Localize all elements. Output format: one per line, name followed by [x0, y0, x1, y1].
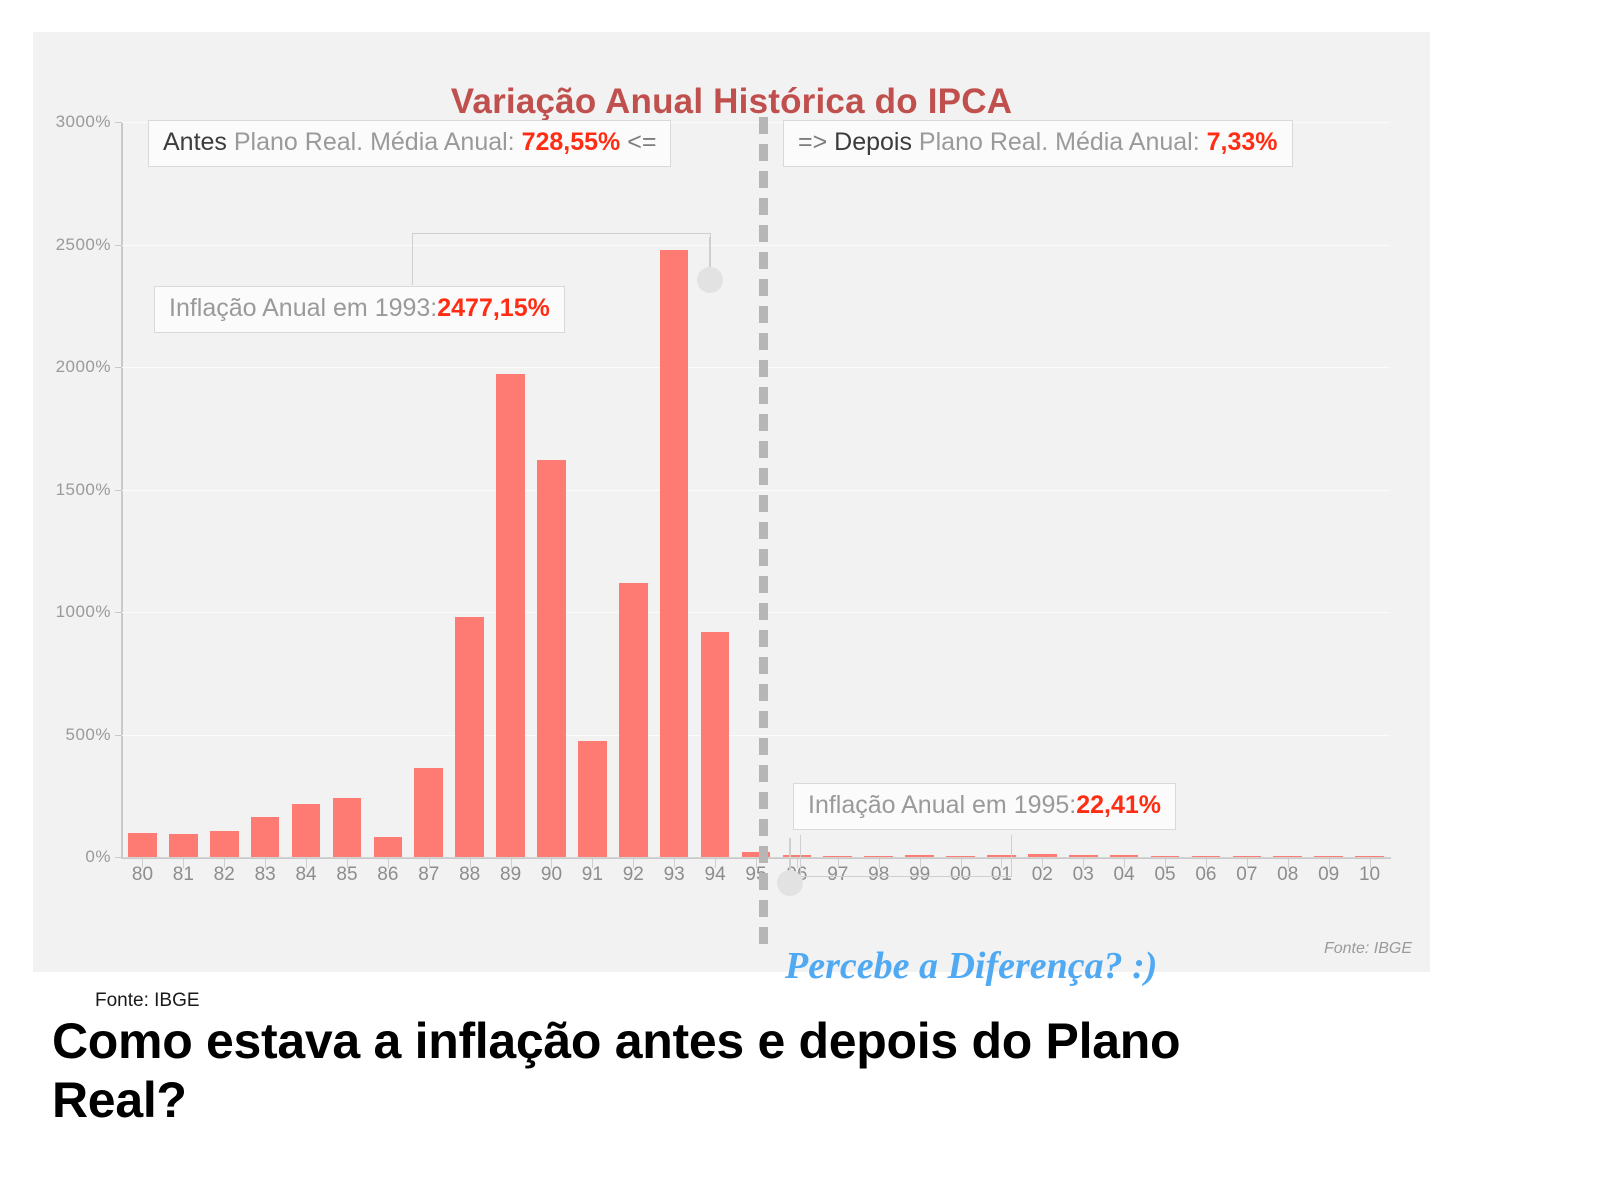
x-tick-mark-08: [1288, 859, 1289, 868]
bar-90[interactable]: [537, 460, 566, 857]
callout-antes-value: 728,55%: [522, 128, 621, 156]
callout-inflacao-1995: Inflação Anual em 1995:22,41%: [793, 783, 1176, 830]
x-tick-mark-07: [1247, 859, 1248, 868]
bar-slot: [245, 122, 286, 857]
bar-84[interactable]: [292, 804, 321, 857]
x-tick-mark-81: [183, 859, 184, 868]
y-tick-label-2000%: 2000%: [33, 357, 111, 377]
chart-panel: Variação Anual Histórica do IPCA 0%500%1…: [33, 32, 1430, 972]
callout-inflacao-1993: Inflação Anual em 1993:2477,15%: [154, 286, 565, 333]
bar-92[interactable]: [619, 583, 648, 857]
x-tick-mark-94: [715, 859, 716, 868]
x-tick-mark-06: [1206, 859, 1207, 868]
bar-85[interactable]: [333, 798, 362, 857]
bar-slot: [1104, 122, 1145, 857]
marker-dot-1995: [777, 870, 803, 896]
x-tick-mark-83: [265, 859, 266, 868]
bar-05[interactable]: [1151, 856, 1180, 858]
bar-86[interactable]: [374, 837, 403, 857]
page-root: Variação Anual Histórica do IPCA 0%500%1…: [0, 0, 1600, 1200]
bar-88[interactable]: [455, 617, 484, 857]
bar-07[interactable]: [1233, 856, 1262, 858]
bar-slot: [776, 122, 817, 857]
gridline-0%: [122, 857, 1390, 858]
bar-89[interactable]: [496, 374, 525, 857]
bar-81[interactable]: [169, 834, 198, 857]
bar-04[interactable]: [1110, 855, 1139, 857]
bar-82[interactable]: [210, 831, 239, 857]
x-tick-mark-89: [511, 859, 512, 868]
y-tick-label-3000%: 3000%: [33, 112, 111, 132]
x-tick-mark-86: [388, 859, 389, 868]
bar-slot: [1022, 122, 1063, 857]
bar-slot: [1349, 122, 1390, 857]
x-tick-mark-85: [347, 859, 348, 868]
x-tick-mark-04: [1124, 859, 1125, 868]
bar-slot: [1226, 122, 1267, 857]
x-tick-mark-91: [592, 859, 593, 868]
bar-10[interactable]: [1355, 856, 1384, 858]
bar-slot: [122, 122, 163, 857]
plot-area: [122, 122, 1390, 857]
y-tick-label-2500%: 2500%: [33, 235, 111, 255]
x-tick-mark-95: [756, 859, 757, 868]
y-tick-label-1000%: 1000%: [33, 602, 111, 622]
x-tick-mark-02: [1042, 859, 1043, 868]
chart-title: Variação Anual Histórica do IPCA: [33, 82, 1430, 122]
bar-slot: [367, 122, 408, 857]
bar-slot: [327, 122, 368, 857]
chart-source-label: Fonte: IBGE: [1324, 940, 1412, 958]
callout-depois-arrow: =>: [798, 128, 834, 156]
callout-depois-prefix: Depois: [834, 128, 912, 156]
bar-slot: [286, 122, 327, 857]
bar-slot: [940, 122, 981, 857]
bar-slot: [204, 122, 245, 857]
bar-02[interactable]: [1028, 854, 1057, 857]
x-tick-mark-90: [551, 859, 552, 868]
x-tick-mark-80: [142, 859, 143, 868]
caption-source: Fonte: IBGE: [95, 990, 200, 1012]
marker-dot-1993: [697, 267, 723, 293]
x-tick-mark-92: [633, 859, 634, 868]
bar-slot: [1145, 122, 1186, 857]
bar-87[interactable]: [414, 768, 443, 857]
y-tick-label-500%: 500%: [33, 725, 111, 745]
callout-antes: Antes Plano Real. Média Anual: 728,55% <…: [148, 120, 671, 167]
bar-slot: [858, 122, 899, 857]
callout-depois-value: 7,33%: [1207, 128, 1278, 156]
x-tick-mark-10: [1370, 859, 1371, 868]
bar-slot: [1267, 122, 1308, 857]
page-headline: Como estava a inflação antes e depois do…: [52, 1012, 1252, 1130]
plano-real-divider: [759, 117, 768, 947]
x-tick-mark-88: [470, 859, 471, 868]
y-tick-label-0%: 0%: [33, 847, 111, 867]
bar-slot: [899, 122, 940, 857]
leader-line-1995: [800, 835, 1012, 877]
bar-slot: [817, 122, 858, 857]
x-tick-mark-87: [429, 859, 430, 868]
x-tick-mark-82: [224, 859, 225, 868]
bar-09[interactable]: [1314, 856, 1343, 858]
bar-91[interactable]: [578, 741, 607, 857]
bar-93[interactable]: [660, 250, 689, 857]
leader-line-1993: [412, 233, 711, 285]
callout-1995-label: Inflação Anual em 1995:: [808, 791, 1076, 819]
x-tick-mark-84: [306, 859, 307, 868]
x-tick-mark-93: [674, 859, 675, 868]
bar-06[interactable]: [1192, 856, 1221, 858]
bar-83[interactable]: [251, 817, 280, 857]
bar-slot: [163, 122, 204, 857]
footer-note: Percebe a Diferença? :): [785, 944, 1157, 988]
callout-1993-value: 2477,15%: [437, 294, 550, 322]
bar-94[interactable]: [701, 632, 730, 857]
bar-slot: [1308, 122, 1349, 857]
x-tick-mark-09: [1329, 859, 1330, 868]
bar-slot: [981, 122, 1022, 857]
bar-80[interactable]: [128, 833, 157, 857]
callout-depois: => Depois Plano Real. Média Anual: 7,33%: [783, 120, 1293, 167]
y-tick-label-1500%: 1500%: [33, 480, 111, 500]
x-tick-mark-96: [797, 859, 798, 868]
bar-slot: [1063, 122, 1104, 857]
x-tick-mark-03: [1083, 859, 1084, 868]
bar-slot: [1185, 122, 1226, 857]
callout-antes-prefix: Antes: [163, 128, 227, 156]
callout-antes-middle: Plano Real. Média Anual:: [227, 128, 522, 156]
callout-depois-middle: Plano Real. Média Anual:: [912, 128, 1207, 156]
bar-slot: [736, 122, 777, 857]
callout-1993-label: Inflação Anual em 1993:: [169, 294, 437, 322]
x-tick-mark-05: [1165, 859, 1166, 868]
callout-1995-value: 22,41%: [1076, 791, 1161, 819]
bar-08[interactable]: [1273, 856, 1302, 858]
bar-03[interactable]: [1069, 855, 1098, 857]
callout-antes-suffix: <=: [620, 128, 656, 156]
